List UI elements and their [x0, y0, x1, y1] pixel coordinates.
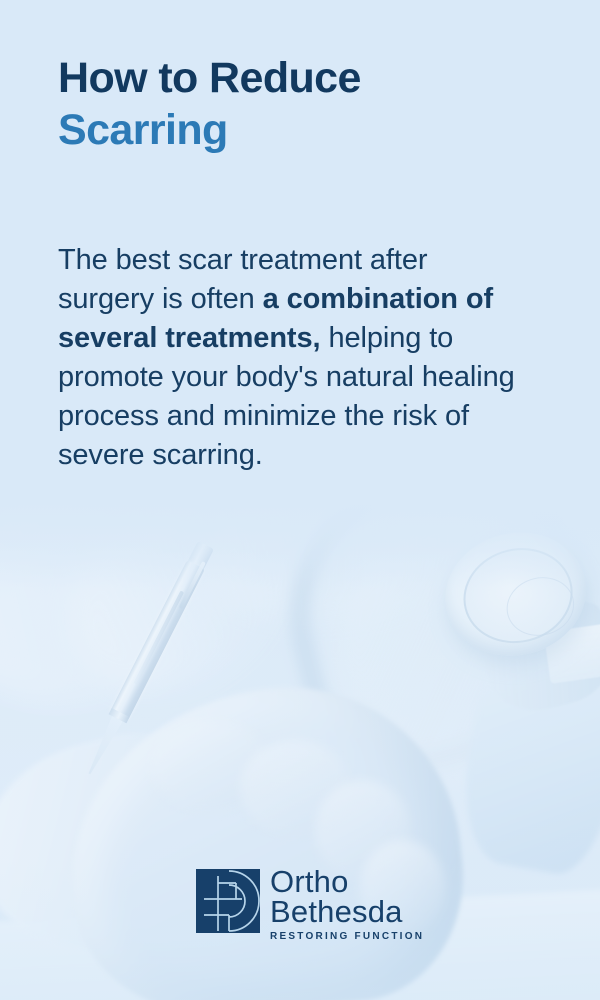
logo-monogram-icon — [196, 869, 260, 933]
headline-block: How to Reduce Scarring — [58, 52, 558, 156]
poster-content: How to Reduce Scarring The best scar tre… — [0, 0, 600, 1000]
headline-line-1: How to Reduce — [58, 52, 558, 104]
logo-wordmark: Ortho Bethesda RESTORING FUNCTION — [270, 868, 424, 942]
poster-canvas: How to Reduce Scarring The best scar tre… — [0, 0, 600, 1000]
ortho-bethesda-logo[interactable]: Ortho Bethesda RESTORING FUNCTION — [196, 868, 411, 942]
headline-line-2: Scarring — [58, 104, 558, 156]
logo-word-bethesda: Bethesda — [270, 898, 424, 926]
logo-word-ortho: Ortho — [270, 868, 424, 896]
body-copy: The best scar treatment after surgery is… — [58, 241, 528, 475]
logo-tagline: RESTORING FUNCTION — [270, 931, 424, 942]
